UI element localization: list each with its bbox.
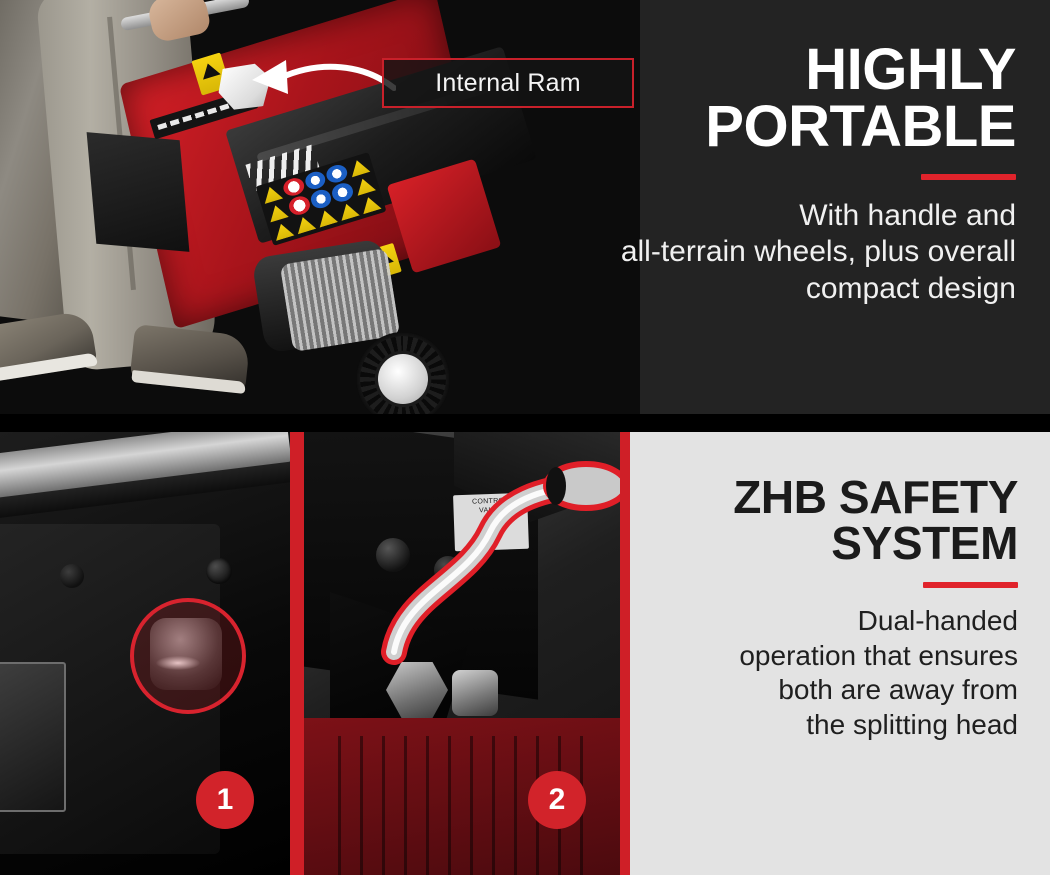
top-headline: HIGHLY PORTABLE <box>596 42 1016 156</box>
bottom-body-line4: the splitting head <box>658 708 1018 743</box>
bottom-body-line2: operation that ensures <box>658 639 1018 674</box>
warning-triangle-icon <box>314 206 339 229</box>
warning-triangle-icon <box>358 193 383 216</box>
pivot-nut <box>452 670 498 716</box>
top-body-line3: compact design <box>596 271 1016 308</box>
top-headline-line1: HIGHLY <box>596 42 1016 99</box>
panel-divider-left <box>290 432 304 875</box>
bottom-headline: ZHB SAFETY SYSTEM <box>658 474 1018 566</box>
top-headline-line2: PORTABLE <box>596 99 1016 156</box>
control-lever-highlight <box>370 446 620 676</box>
step-badge-one: 1 <box>196 771 254 829</box>
person-front-shoe <box>129 324 250 394</box>
warning-triangle-icon <box>292 213 317 236</box>
prohibition-icon <box>281 176 306 199</box>
bottom-accent-rule <box>923 582 1018 588</box>
knob-circle-highlight <box>130 598 246 714</box>
warning-triangle-icon <box>352 174 377 197</box>
bottom-headline-line1: ZHB SAFETY <box>658 474 1018 520</box>
splitter-support-leg <box>87 132 190 252</box>
top-body-line1: With handle and <box>596 198 1016 235</box>
wheel-hub <box>378 354 428 404</box>
mandatory-icon <box>330 181 355 204</box>
mandatory-icon <box>325 163 350 186</box>
warning-triangle-icon <box>271 219 296 242</box>
top-accent-rule <box>921 174 1016 180</box>
warning-triangle-icon <box>259 183 284 206</box>
bottom-text-block: ZHB SAFETY SYSTEM Dual-handed operation … <box>658 474 1018 743</box>
warning-triangle-icon <box>346 156 371 179</box>
section-divider-band <box>0 414 1050 432</box>
top-text-block: HIGHLY PORTABLE With handle and all-terr… <box>596 42 1016 307</box>
bottom-headline-line2: SYSTEM <box>658 520 1018 566</box>
infographic-root: Internal Ram HIGHLY PORTABLE With handle… <box>0 0 1050 875</box>
top-body-text: With handle and all-terrain wheels, plus… <box>596 198 1016 308</box>
top-section: Internal Ram HIGHLY PORTABLE With handle… <box>0 0 1050 422</box>
prohibition-icon <box>287 194 312 217</box>
mandatory-icon <box>309 188 334 211</box>
top-body-line2: all-terrain wheels, plus overall <box>596 234 1016 271</box>
arrow-pointer-icon <box>246 58 396 112</box>
warning-triangle-icon <box>336 199 361 222</box>
bottom-body-line1: Dual-handed <box>658 604 1018 639</box>
screw-icon <box>206 558 232 584</box>
mandatory-icon <box>303 169 328 192</box>
step-badge-two: 2 <box>528 771 586 829</box>
person-back-shoe <box>0 310 98 382</box>
housing-window <box>0 662 66 812</box>
panel-divider-right <box>620 432 630 875</box>
bottom-body-line3: both are away from <box>658 673 1018 708</box>
warning-triangle-icon <box>265 201 290 224</box>
bottom-body-text: Dual-handed operation that ensures both … <box>658 604 1018 743</box>
callout-label: Internal Ram <box>435 69 581 98</box>
screw-icon <box>60 564 84 588</box>
bottom-text-panel: ZHB SAFETY SYSTEM Dual-handed operation … <box>630 432 1050 875</box>
